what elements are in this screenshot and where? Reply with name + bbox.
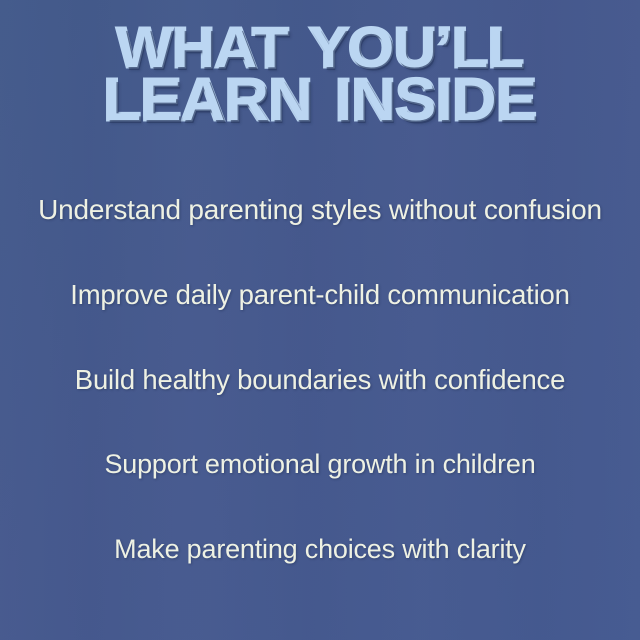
list-item: Make parenting choices with clarity: [0, 534, 640, 565]
page-title-line-2: LEARN INSIDE: [0, 74, 640, 126]
list-item: Understand parenting styles without conf…: [0, 194, 640, 226]
list-item: Improve daily parent-child communication: [0, 279, 640, 311]
promo-slide: WHAT YOU’LL LEARN INSIDE Understand pare…: [0, 0, 640, 640]
list-item: Build healthy boundaries with confidence: [0, 364, 640, 396]
benefits-list: Understand parenting styles without conf…: [0, 170, 640, 600]
page-title: WHAT YOU’LL LEARN INSIDE: [0, 22, 640, 126]
list-item: Support emotional growth in children: [0, 449, 640, 480]
